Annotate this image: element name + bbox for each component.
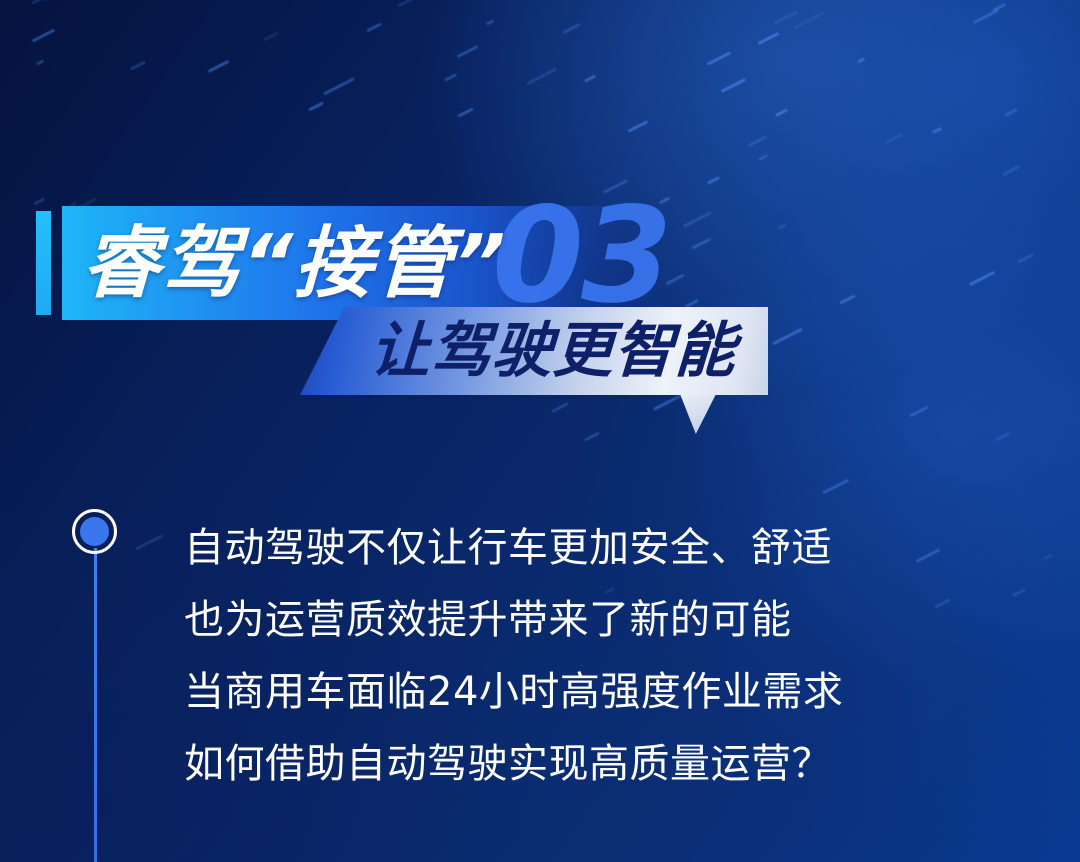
- title-block: 03 睿驾“接管” 让驾驶更智能: [0, 0, 1080, 440]
- headline-text: 睿驾“接管”: [80, 214, 508, 314]
- dash-mark: [822, 479, 849, 495]
- body-line: 也为运营质效提升带来了新的可能: [184, 584, 944, 656]
- cyan-accent-bar: [36, 211, 51, 315]
- dash-mark: [1012, 588, 1026, 597]
- dash-mark: [135, 534, 163, 550]
- body-line: 如何借助自动驾驶实现高质量运营？: [184, 728, 944, 800]
- dash-mark: [1043, 553, 1054, 560]
- body-copy: 自动驾驶不仅让行车更加安全、舒适也为运营质效提升带来了新的可能当商用车面临24小…: [184, 512, 944, 800]
- bullet-rail-line: [94, 548, 97, 862]
- circle-bullet-icon: [72, 509, 117, 554]
- subheadline-text: 让驾驶更智能: [368, 313, 738, 389]
- body-line: 当商用车面临24小时高强度作业需求: [184, 656, 944, 728]
- circle-bullet-dot-icon: [80, 517, 109, 546]
- section-number: 03: [492, 190, 670, 322]
- poster-canvas: 03 睿驾“接管” 让驾驶更智能 自动驾驶不仅让行车更加安全、舒适也为运营质效提…: [0, 0, 1080, 862]
- subheadline-banner-tail: [680, 394, 716, 434]
- body-line: 自动驾驶不仅让行车更加安全、舒适: [184, 512, 944, 584]
